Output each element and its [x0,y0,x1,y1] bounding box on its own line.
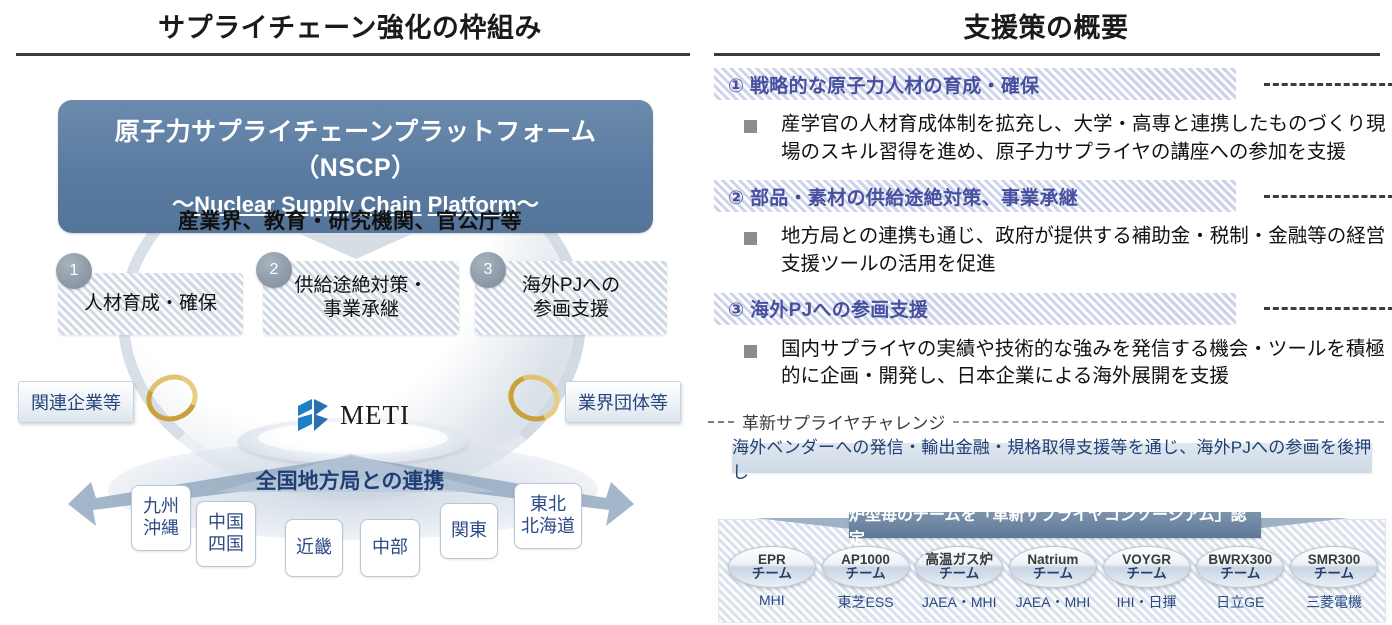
nscp-title-ja: 原子力サプライチェーンプラットフォーム（NSCP） [68,112,643,184]
team-name: VOYGR [1122,553,1171,567]
left-panel: サプライチェーン強化の枠組み 原子力サプライチェーンプラットフォーム（NSCP）… [0,0,700,625]
team-name: AP1000 [841,553,890,567]
team-company: 三菱電機 [1287,592,1381,612]
section-1-bullet-text: 産学官の人材育成体制を拡充し、大学・高専と連携したものづくり現場のスキル習得を進… [781,111,1392,166]
region-box-kyushu-okinawa: 九州沖縄 [131,485,191,551]
slide-root: サプライチェーン強化の枠組み 原子力サプライチェーンプラットフォーム（NSCP）… [0,0,1392,625]
overseas-support-bar: 海外ベンダーへの発信・輸出金融・規格取得支援等を通じ、海外PJへの参画を後押し [732,443,1372,473]
team-name: 高温ガス炉 [925,553,993,567]
section-2-bullet-row: 地方局との連携も通じ、政府が提供する補助金・税制・金融等の経営支援ツールの活用を… [744,223,1392,278]
ribbon-wing-left-icon [755,518,851,540]
section-1-heading-text: ① 戦略的な原子力人材の育成・確保 [714,71,1039,98]
team-item: AP1000 チーム 東芝ESS [819,546,913,612]
team-badge: 高温ガス炉 チーム [915,546,1003,588]
meti-mark-icon [292,394,334,436]
challenge-dash-left [708,421,734,423]
ribbon-wing-right-icon [1253,518,1349,540]
section-3-bullet-row: 国内サプライヤの実績や技術的な強みを発信する機会・ツールを積極的に企画・開発し、… [744,336,1392,391]
right-title-rule [714,53,1380,56]
nscp-down-arrow-icon [298,233,414,259]
square-bullet-icon [744,232,757,245]
nscp-block: 原子力サプライチェーンプラットフォーム（NSCP） ～Nuclear Suppl… [58,100,653,259]
team-name: BWRX300 [1208,553,1272,567]
section-3-heading-text: ③ 海外PJへの参画支援 [714,295,928,322]
consortium-ribbon-label: 炉型毎のチームを「革新サプライヤコンソーシアム」認定 [849,512,1261,538]
section-1: ① 戦略的な原子力人材の育成・確保 産学官の人材育成体制を拡充し、大学・高専と連… [700,68,1392,166]
section-2-bullet-text: 地方局との連携も通じ、政府が提供する補助金・税制・金融等の経営支援ツールの活用を… [781,223,1392,278]
team-badge: SMR300 チーム [1290,546,1378,588]
square-bullet-icon [744,120,757,133]
section-3: ③ 海外PJへの参画支援 国内サプライヤの実績や技術的な強みを発信する機会・ツー… [700,293,1392,391]
section-2-dashed-line [1264,195,1392,198]
team-name: Natrium [1027,553,1078,567]
organizations-line: 産業界、教育・研究機関、官公庁等 [0,205,700,235]
team-item: BWRX300 チーム 日立GE [1193,546,1287,612]
team-suffix: チーム [939,567,979,581]
team-badge: BWRX300 チーム [1196,546,1284,588]
pillar-card-2: 供給途絶対策・事業承継 [263,261,459,335]
team-company: IHI・日揮 [1100,592,1194,612]
team-suffix: チーム [1033,567,1073,581]
region-box-chubu: 中部 [360,519,420,577]
section-1-bullet-row: 産学官の人材育成体制を拡充し、大学・高専と連携したものづくり現場のスキル習得を進… [744,111,1392,166]
team-item: SMR300 チーム 三菱電機 [1287,546,1381,612]
team-badge: EPR チーム [728,546,816,588]
team-company: 日立GE [1193,592,1287,612]
region-box-kanto: 関東 [440,503,498,559]
pillar-label-1: 人材育成・確保 [84,292,217,316]
pillar-number-3: 3 [470,252,506,288]
challenge-divider: 革新サプライヤチャレンジ [708,409,1384,434]
team-company: 東芝ESS [819,592,913,612]
section-3-heading: ③ 海外PJへの参画支援 [714,293,1236,325]
meti-wordmark: METI [340,400,410,431]
region-box-tohoku-hokkaido: 東北北海道 [514,483,582,549]
section-3-bullet-text: 国内サプライヤの実績や技術的な強みを発信する機会・ツールを積極的に企画・開発し、… [781,336,1392,391]
challenge-label: 革新サプライヤチャレンジ [742,409,945,434]
team-item: EPR チーム MHI [725,546,819,612]
team-suffix: チーム [845,567,885,581]
team-badge: VOYGR チーム [1103,546,1191,588]
pillar-number-1: 1 [56,253,92,289]
left-panel-title: サプライチェーン強化の枠組み [0,0,700,45]
pillar-label-3: 海外PJへの参画支援 [522,274,620,323]
team-company: JAEA・MHI [912,592,1006,612]
regional-bureaus-label: 全国地方局との連携 [0,465,700,495]
left-title-rule [16,53,690,56]
team-item: Natrium チーム JAEA・MHI [1006,546,1100,612]
meti-logo: METI [292,394,410,436]
right-panel-title: 支援策の概要 [700,0,1392,45]
pillar-label-2: 供給途絶対策・事業承継 [294,274,427,323]
team-name: SMR300 [1308,553,1361,567]
team-suffix: チーム [1127,567,1167,581]
square-bullet-icon [744,345,757,358]
team-badge: AP1000 チーム [822,546,910,588]
section-2-heading-text: ② 部品・素材の供給途絶対策、事業承継 [714,183,1078,210]
region-box-chugoku-shikoku: 中国四国 [196,501,256,567]
tag-industry-groups: 業界団体等 [565,381,681,423]
team-name: EPR [758,553,786,567]
challenge-dash-right [953,421,1384,423]
team-badge: Natrium チーム [1009,546,1097,588]
consortium-panel: 炉型毎のチームを「革新サプライヤコンソーシアム」認定 EPR チーム MHI A… [718,519,1386,623]
consortium-team-list: EPR チーム MHI AP1000 チーム 東芝ESS 高温ガス炉 チーム J… [725,546,1381,612]
region-box-kinki: 近畿 [285,519,343,577]
team-suffix: チーム [1220,567,1260,581]
pillar-number-2: 2 [256,252,292,288]
section-1-dashed-line [1264,83,1392,86]
team-suffix: チーム [1314,567,1354,581]
section-1-heading: ① 戦略的な原子力人材の育成・確保 [714,68,1236,100]
team-item: VOYGR チーム IHI・日揮 [1100,546,1194,612]
section-2-heading: ② 部品・素材の供給途絶対策、事業承継 [714,180,1236,212]
team-company: MHI [725,592,819,608]
tag-related-companies: 関連企業等 [18,381,134,423]
team-item: 高温ガス炉 チーム JAEA・MHI [912,546,1006,612]
team-suffix: チーム [752,567,792,581]
team-company: JAEA・MHI [1006,592,1100,612]
section-3-dashed-line [1264,307,1392,310]
section-2: ② 部品・素材の供給途絶対策、事業承継 地方局との連携も通じ、政府が提供する補助… [700,180,1392,278]
